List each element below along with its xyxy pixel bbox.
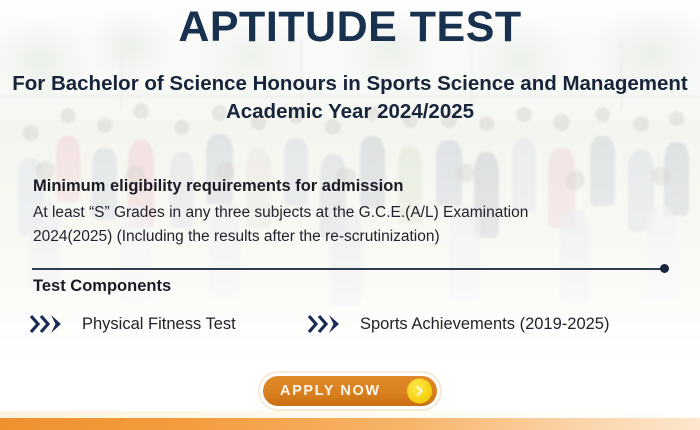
eligibility-body-line-1: At least “S” Grades in any three subject… [33,201,663,225]
triple-chevron-icon [308,313,346,335]
eligibility-body-line-2: 2024(2025) (Including the results after … [33,225,663,249]
test-components-heading: Test Components [33,277,171,296]
subtitle-line-1: For Bachelor of Science Honours in Sport… [12,72,688,95]
test-component-label: Physical Fitness Test [82,315,236,334]
subtitle-line-2: Academic Year 2024/2025 [0,98,700,126]
test-component-item: Physical Fitness Test [30,313,236,335]
page-title: APTITUDE TEST [0,4,700,51]
test-component-item: Sports Achievements (2019-2025) [308,313,609,335]
divider-end-dot-icon [660,264,669,273]
chevron-right-icon [407,379,432,404]
bottom-accent-bar [0,418,700,430]
section-divider [32,268,666,270]
eligibility-heading: Minimum eligibility requirements for adm… [33,177,403,196]
apply-now-label: APPLY NOW [280,383,381,399]
eligibility-body: At least “S” Grades in any three subject… [33,201,663,249]
aptitude-test-poster: APTITUDE TEST For Bachelor of Science Ho… [0,0,700,430]
apply-now-button[interactable]: APPLY NOW [258,371,442,411]
test-component-label: Sports Achievements (2019-2025) [360,315,609,334]
subtitle: For Bachelor of Science Honours in Sport… [0,70,700,125]
apply-now-button-inner[interactable]: APPLY NOW [263,376,437,406]
triple-chevron-icon [30,313,68,335]
